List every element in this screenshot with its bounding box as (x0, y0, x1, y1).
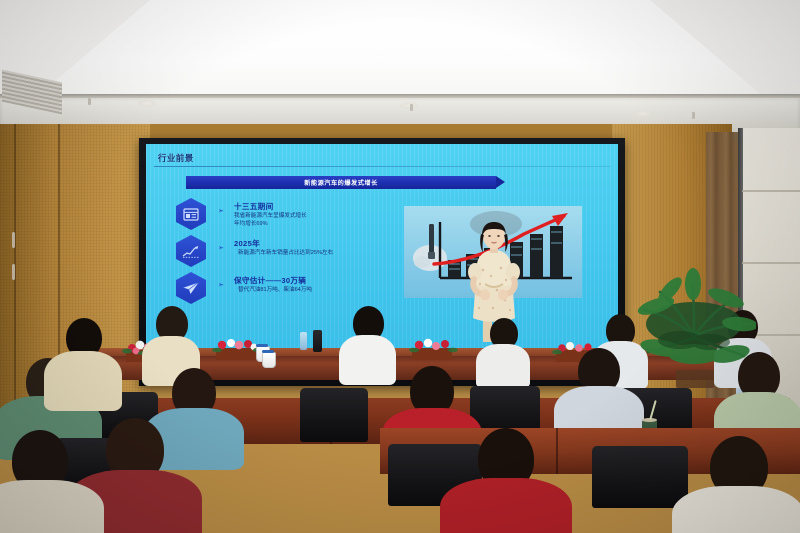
white-teacup (262, 352, 276, 368)
bullet-line: 替代汽油81万吨、柴油64万吨 (238, 286, 312, 295)
sprinkler-head (410, 104, 413, 111)
audience-person (448, 428, 564, 533)
bullet-line: 年均增长69% (234, 220, 268, 229)
bullet-icon-hexagon (176, 272, 206, 304)
report-card-icon (183, 208, 199, 221)
sprinkler-head (692, 112, 695, 119)
door-handle[interactable] (12, 232, 15, 248)
slide-banner: 新能源汽车的爆发式增长 (186, 176, 496, 189)
bullet-heading: 保守估计——30万辆 (234, 275, 306, 286)
ceiling-soffit-edge (0, 94, 800, 98)
bullet-icon-hexagon (176, 198, 206, 230)
slide-title: 行业前景 (158, 152, 194, 164)
paper-plane-icon (182, 281, 200, 295)
bullet-heading: 2025年 (234, 238, 260, 249)
bullet-line: 新能源汽车新车销量占比达到25%左右 (238, 249, 333, 258)
slide-bullet-list: ➣ 十三五期间 我省新能源汽车呈爆发式增长 年均增长69% (176, 198, 436, 309)
bullet-heading: 十三五期间 (234, 201, 273, 212)
slide-banner-text: 新能源汽车的爆发式增长 (304, 178, 378, 187)
list-item: ➣ 保守估计——30万辆 替代汽油81万吨、柴油64万吨 (176, 272, 436, 309)
list-item: ➣ 十三五期间 我省新能源汽车呈爆发式增长 年均增长69% (176, 198, 436, 235)
black-thermos (313, 330, 322, 352)
slide-banner-arrow (496, 176, 505, 188)
bullet-marker: ➣ (218, 244, 224, 252)
audience-person (0, 430, 94, 533)
slide-title-rule (154, 166, 610, 167)
bullet-marker: ➣ (218, 207, 224, 215)
audience-person (476, 318, 530, 384)
conference-room-scene: 行业前景 新能源汽车的爆发式增长 (0, 0, 800, 533)
chair (592, 446, 688, 508)
teacup-lid (262, 350, 274, 353)
door-handle[interactable] (12, 264, 15, 280)
audience-person (676, 436, 800, 533)
line-chart-icon (182, 245, 200, 258)
bullet-icon-hexagon (176, 235, 206, 267)
ceiling-speaker (138, 100, 156, 107)
water-bottle (300, 332, 307, 350)
chair (300, 388, 368, 442)
flower-arrangement (404, 334, 462, 360)
audience-person (44, 318, 122, 410)
teacup-lid (256, 344, 268, 347)
bullet-marker: ➣ (218, 281, 224, 289)
sprinkler-head (88, 98, 91, 105)
ceiling-speaker (400, 102, 418, 109)
list-item: ➣ 2025年 新能源汽车新车销量占比达到25%左右 (176, 235, 436, 272)
window-mullion (742, 190, 800, 192)
ceiling-speaker (634, 110, 652, 117)
potted-palm-plant (636, 258, 756, 388)
